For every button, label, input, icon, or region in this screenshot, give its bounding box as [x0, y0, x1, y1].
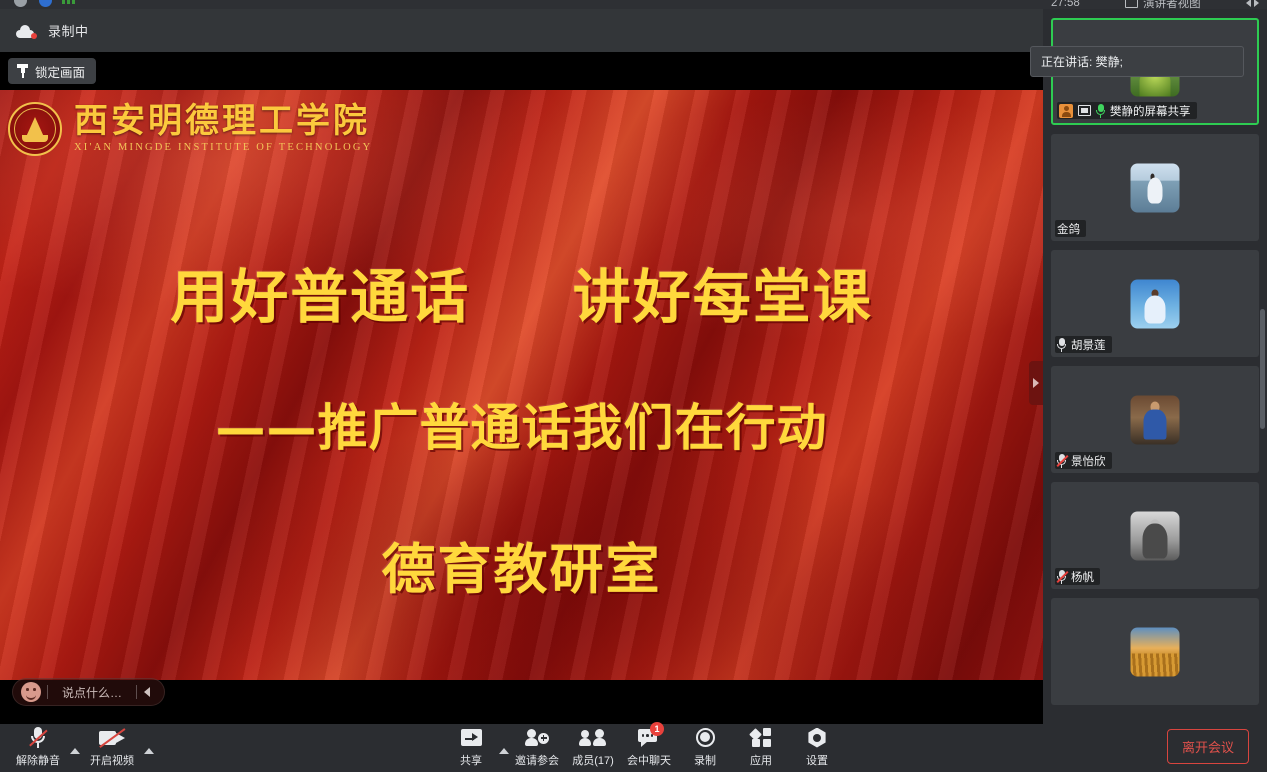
- signal-bars-icon: [62, 0, 75, 4]
- toolbar-button-share[interactable]: 共享: [443, 727, 499, 770]
- video-options-chevron-up-icon[interactable]: [144, 748, 154, 754]
- institution-name-cn: 西安明德理工学院: [74, 104, 372, 138]
- slide-title-left: 用好普通话: [170, 263, 470, 331]
- participant-tile[interactable]: 景怡欣: [1051, 366, 1259, 473]
- slide-subtitle: ——推广普通话我们在行动: [0, 388, 1043, 460]
- speaking-tooltip: 正在讲话: 樊静;: [1030, 46, 1244, 77]
- apps-icon: [751, 727, 771, 749]
- meeting-window: 录制中 锁定画面 西安明德理工学院 XI'AN MINGDE INSTITUTE…: [0, 0, 1267, 772]
- avatar: [1131, 279, 1180, 328]
- toolbar-button-label: 应用: [750, 752, 772, 768]
- participant-name-chip: 杨帆: [1055, 568, 1100, 585]
- microphone-active-icon: [1096, 104, 1105, 118]
- app-badge-icon: [39, 0, 52, 7]
- panel-scrollbar-thumb[interactable]: [1260, 309, 1265, 429]
- toolbar-button-label: 成员(17): [572, 752, 614, 768]
- presentation-slide: 西安明德理工学院 XI'AN MINGDE INSTITUTE OF TECHN…: [0, 90, 1043, 680]
- microphone-icon: [1057, 338, 1066, 352]
- shared-screen-area[interactable]: 西安明德理工学院 XI'AN MINGDE INSTITUTE OF TECHN…: [0, 90, 1043, 724]
- toolbar-button-record[interactable]: 录制: [677, 727, 733, 770]
- record-icon: [696, 727, 715, 749]
- share-icon: [461, 727, 482, 749]
- recording-status-label: 录制中: [48, 21, 89, 40]
- pin-bar: 锁定画面: [0, 52, 1043, 90]
- toolbar-button-label: 邀请参会: [515, 752, 559, 768]
- unmute-button[interactable]: 解除静音: [10, 727, 66, 770]
- settings-icon: [807, 727, 827, 749]
- slide-chat-input-bar[interactable]: 说点什么…: [12, 678, 165, 706]
- emoji-icon[interactable]: [21, 682, 41, 702]
- slide-department: 德育教研室: [0, 525, 1043, 604]
- microphone-muted-icon: [30, 727, 46, 749]
- screen-icon: [1125, 0, 1138, 8]
- microphone-muted-icon: [1057, 570, 1066, 584]
- screen-share-icon: [1078, 105, 1091, 116]
- participant-name-chip: 景怡欣: [1055, 452, 1112, 469]
- cloud-recording-icon: [16, 23, 38, 39]
- toolbar-button-label: 录制: [694, 752, 716, 768]
- participant-name: 樊静的屏幕共享: [1110, 103, 1191, 119]
- toolbar-center-group: 共享邀请参会成员(17)1会中聊天录制应用设置: [443, 727, 845, 770]
- toolbar-button-members[interactable]: 成员(17): [565, 727, 621, 770]
- avatar: [1131, 395, 1180, 444]
- invite-icon: [525, 727, 549, 749]
- share-options-chevron-up-icon[interactable]: [499, 748, 509, 754]
- toolbar-button-settings[interactable]: 设置: [789, 727, 845, 770]
- pin-icon: [17, 64, 28, 78]
- lock-screen-button[interactable]: 锁定画面: [8, 58, 96, 84]
- participant-name: 杨帆: [1071, 569, 1094, 585]
- camera-off-icon: [99, 727, 125, 749]
- panel-collapse-toggle[interactable]: [1029, 361, 1043, 405]
- participant-name: 胡景莲: [1071, 337, 1106, 353]
- members-icon: [580, 727, 606, 749]
- slide-title-right: 讲好每堂课: [573, 263, 873, 331]
- participant-name-chip: 胡景莲: [1055, 336, 1112, 353]
- participant-tile[interactable]: 金鸽: [1051, 134, 1259, 241]
- unmute-label: 解除静音: [16, 752, 60, 768]
- avatar: [1131, 511, 1180, 560]
- toolbar-button-invite[interactable]: 邀请参会: [509, 727, 565, 770]
- start-video-button[interactable]: 开启视频: [84, 727, 140, 770]
- toolbar-button-chat[interactable]: 1会中聊天: [621, 727, 677, 770]
- institution-name-en: XI'AN MINGDE INSTITUTE OF TECHNOLOGY: [74, 143, 372, 154]
- participant-panel: 27:58 演讲者视图 樊静的屏幕共享金鸽胡景莲景怡欣杨帆: [1043, 0, 1267, 724]
- panel-scrollbar-track[interactable]: [1261, 9, 1266, 724]
- participant-name: 金鸽: [1057, 221, 1080, 237]
- panel-nav-arrows[interactable]: [1246, 0, 1259, 7]
- participant-name-chip: 樊静的屏幕共享: [1057, 102, 1197, 119]
- participant-tile[interactable]: 杨帆: [1051, 482, 1259, 589]
- view-mode-selector[interactable]: 演讲者视图: [1125, 0, 1201, 9]
- participant-tile[interactable]: 胡景莲: [1051, 250, 1259, 357]
- toolbar-button-apps[interactable]: 应用: [733, 727, 789, 770]
- start-video-label: 开启视频: [90, 752, 134, 768]
- toolbar-button-label: 会中聊天: [627, 752, 671, 768]
- participant-name-chip: 金鸽: [1055, 220, 1086, 237]
- avatar: [1131, 627, 1180, 676]
- leave-meeting-button[interactable]: 离开会议: [1167, 729, 1249, 764]
- institution-logo: 西安明德理工学院 XI'AN MINGDE INSTITUTE OF TECHN…: [8, 102, 372, 156]
- chat-collapse-left-icon[interactable]: [137, 682, 157, 702]
- slide-title: 用好普通话 讲好每堂课: [0, 250, 1043, 334]
- avatar: [1131, 163, 1180, 212]
- meeting-toolbar: 解除静音 开启视频 共享邀请参会成员(17)1会中聊天录制应用设置 离开会议: [0, 724, 1267, 772]
- panel-header: 27:58 演讲者视图: [1043, 0, 1267, 9]
- chat-input-placeholder[interactable]: 说点什么…: [48, 684, 136, 701]
- chat-icon: 1: [638, 727, 660, 749]
- user-avatar-icon: [14, 0, 27, 7]
- notification-badge: 1: [650, 722, 664, 736]
- view-mode-label: 演讲者视图: [1143, 0, 1201, 9]
- participant-name: 景怡欣: [1071, 453, 1106, 469]
- meeting-timer: 27:58: [1051, 0, 1080, 9]
- audio-options-chevron-up-icon[interactable]: [70, 748, 80, 754]
- school-crest-icon: [8, 102, 62, 156]
- participant-tile-list[interactable]: 樊静的屏幕共享金鸽胡景莲景怡欣杨帆: [1043, 9, 1267, 724]
- participant-tile[interactable]: [1051, 598, 1259, 705]
- toolbar-button-label: 共享: [460, 752, 482, 768]
- host-icon: [1059, 104, 1073, 118]
- lock-screen-label: 锁定画面: [35, 62, 85, 81]
- recording-bar: 录制中: [0, 9, 1043, 52]
- microphone-muted-icon: [1057, 454, 1066, 468]
- toolbar-button-label: 设置: [806, 752, 828, 768]
